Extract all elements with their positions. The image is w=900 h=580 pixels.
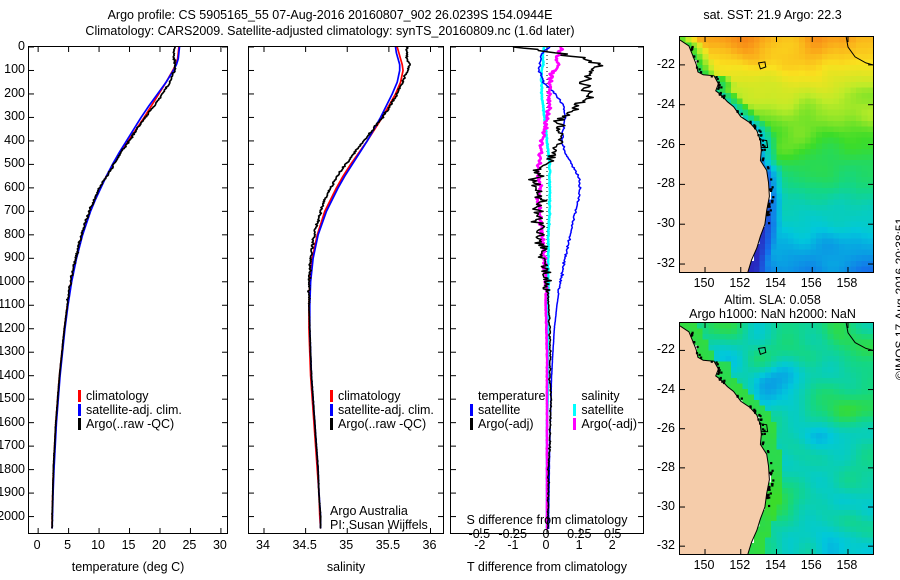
legend-label: Argo(-adj) — [478, 417, 534, 431]
legend-label: satellite — [478, 403, 520, 417]
legend-group-salinity: salinity satellite Argo(-adj) — [573, 389, 637, 431]
difference-legend: temperature satellite Argo(-adj) salinit… — [470, 389, 645, 431]
legend-item: Argo(-adj) — [573, 417, 637, 431]
legend-item: Argo(..raw -QC) — [330, 417, 434, 431]
salinity-tick-label: 34 — [233, 538, 293, 552]
depth-tick-label: 600 — [0, 180, 25, 194]
map-lon-tick-label: 158 — [817, 276, 877, 290]
map-lon-tick-label: 150 — [674, 558, 734, 572]
depth-tick-label: 1900 — [0, 485, 25, 499]
legend-swatch-salinity-satellite — [573, 404, 576, 416]
map-lon-tick-label: 156 — [781, 558, 841, 572]
legend-swatch-argo-adj — [470, 418, 473, 430]
legend-item: climatology — [78, 389, 182, 403]
legend-item: Argo(..raw -QC) — [78, 417, 182, 431]
depth-tick-label: 700 — [0, 203, 25, 217]
legend-label: climatology — [86, 389, 149, 403]
legend-swatch-salinity-argo-adj — [573, 418, 576, 430]
legend-item: satellite — [470, 403, 545, 417]
sst-map — [679, 36, 874, 273]
legend-item: satellite — [573, 403, 637, 417]
t-difference-tick-label: 2 — [582, 538, 642, 552]
salinity-legend: climatology satellite-adj. clim. Argo(..… — [330, 389, 434, 431]
legend-swatch-satellite-adj — [330, 404, 333, 416]
salinity-axis-label: salinity — [248, 560, 444, 574]
depth-tick-label: 1500 — [0, 391, 25, 405]
t-difference-tick-label: -1 — [483, 538, 543, 552]
temperature-tick-label: 0 — [7, 538, 67, 552]
depth-tick-label: 500 — [0, 156, 25, 170]
temperature-tick-label: 10 — [68, 538, 128, 552]
map-lon-tick-label: 158 — [817, 558, 877, 572]
map-lat-tick-label: -32 — [615, 538, 675, 552]
depth-tick-label: 0 — [0, 39, 25, 53]
temperature-tick-label: 30 — [190, 538, 250, 552]
s-difference-axis-label: S difference from climatology — [450, 513, 644, 527]
legend-swatch-argo — [330, 418, 333, 430]
sla-map-title-line1: Altim. SLA: 0.058 — [660, 293, 885, 307]
legend-label: satellite-adj. clim. — [338, 403, 434, 417]
legend-item: satellite-adj. clim. — [78, 403, 182, 417]
map-lon-tick-label: 152 — [710, 276, 770, 290]
map-lon-tick-label: 154 — [746, 276, 806, 290]
difference-panel — [450, 46, 644, 534]
sla-map — [679, 322, 874, 555]
salinity-tick-label: 36 — [400, 538, 460, 552]
temperature-axis-label: temperature (deg C) — [28, 560, 228, 574]
salinity-tick-label: 35.5 — [358, 538, 418, 552]
depth-tick-label: 400 — [0, 133, 25, 147]
temperature-tick-label: 20 — [129, 538, 189, 552]
t-difference-tick-label: -2 — [450, 538, 510, 552]
temperature-tick-label: 25 — [159, 538, 219, 552]
salinity-tick-label: 34.5 — [275, 538, 335, 552]
legend-group-temperature: temperature satellite Argo(-adj) — [470, 389, 545, 431]
depth-tick-label: 300 — [0, 109, 25, 123]
legend-header-label: temperature — [478, 389, 545, 403]
temperature-tick-label: 15 — [99, 538, 159, 552]
legend-header-label: salinity — [581, 389, 619, 403]
t-difference-axis-label: T difference from climatology — [450, 560, 644, 574]
sla-map-title-line2: Argo h1000: NaN h2000: NaN — [655, 307, 890, 321]
legend-label: satellite — [581, 403, 623, 417]
depth-tick-label: 1700 — [0, 438, 25, 452]
legend-label: satellite-adj. clim. — [86, 403, 182, 417]
t-difference-tick-label: 1 — [549, 538, 609, 552]
depth-tick-label: 100 — [0, 62, 25, 76]
legend-group-header: temperature — [470, 389, 545, 403]
depth-tick-label: 2000 — [0, 509, 25, 523]
depth-tick-label: 1800 — [0, 462, 25, 476]
page-title-line2: Climatology: CARS2009. Satellite-adjuste… — [0, 24, 660, 38]
legend-group-header: salinity — [573, 389, 637, 403]
legend-item: satellite-adj. clim. — [330, 403, 434, 417]
map-lon-tick-label: 150 — [674, 276, 734, 290]
depth-tick-label: 1200 — [0, 321, 25, 335]
depth-tick-label: 900 — [0, 250, 25, 264]
depth-tick-label: 1300 — [0, 344, 25, 358]
legend-swatch-argo — [78, 418, 81, 430]
legend-swatch-climatology — [78, 390, 81, 402]
depth-tick-label: 1000 — [0, 274, 25, 288]
legend-label: climatology — [338, 389, 401, 403]
depth-tick-label: 800 — [0, 227, 25, 241]
salinity-panel — [248, 46, 444, 534]
temperature-panel — [28, 46, 228, 534]
depth-tick-label: 1600 — [0, 415, 25, 429]
temperature-tick-label: 5 — [38, 538, 98, 552]
salinity-tick-label: 35 — [316, 538, 376, 552]
map-lon-tick-label: 152 — [710, 558, 770, 572]
legend-label: Argo(..raw -QC) — [338, 417, 426, 431]
map-lon-tick-label: 154 — [746, 558, 806, 572]
attribution-line1: Argo Australia — [330, 504, 408, 518]
sst-map-title: sat. SST: 21.9 Argo: 22.3 — [660, 8, 885, 22]
legend-label: Argo(-adj) — [581, 417, 637, 431]
t-difference-tick-label: 0 — [516, 538, 576, 552]
depth-tick-label: 1100 — [0, 297, 25, 311]
imos-credit: ©IMOS 17-Aug-2016 20:38:51 — [893, 218, 900, 380]
legend-item: Argo(-adj) — [470, 417, 545, 431]
legend-item: climatology — [330, 389, 434, 403]
legend-swatch-satellite-adj — [78, 404, 81, 416]
depth-tick-label: 1400 — [0, 368, 25, 382]
depth-tick-label: 200 — [0, 86, 25, 100]
page-title-line1: Argo profile: CS 5905165_55 07-Aug-2016 … — [0, 8, 660, 22]
attribution-line2: PI: Susan Wijffels — [330, 518, 428, 532]
legend-swatch-satellite — [470, 404, 473, 416]
legend-label: Argo(..raw -QC) — [86, 417, 174, 431]
temperature-legend: climatology satellite-adj. clim. Argo(..… — [78, 389, 182, 431]
legend-swatch-climatology — [330, 390, 333, 402]
map-lon-tick-label: 156 — [781, 276, 841, 290]
